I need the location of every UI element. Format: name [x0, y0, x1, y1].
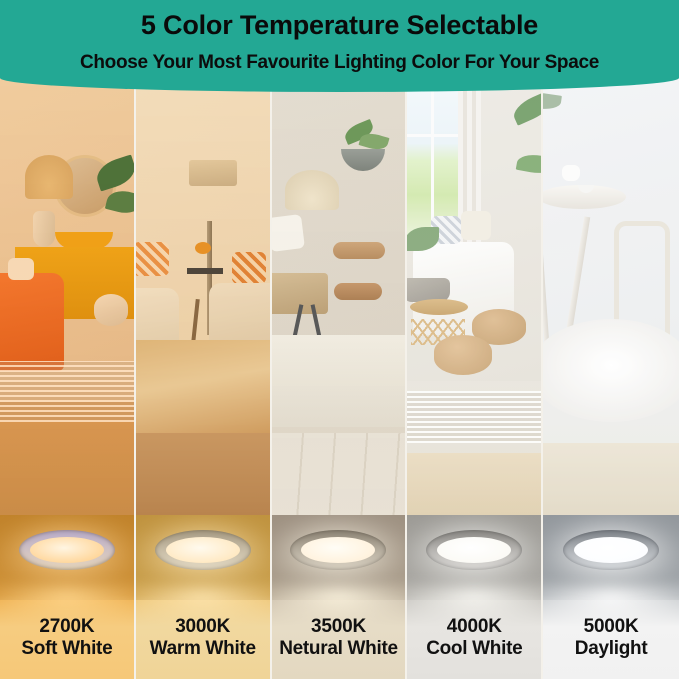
- temperature-name: Warm White: [150, 639, 256, 658]
- fixture-lens: [437, 537, 511, 563]
- striped-rug: [407, 391, 541, 443]
- temperature-column-grid: 2700K Soft White: [0, 0, 679, 679]
- kelvin-value: 3000K: [175, 617, 230, 636]
- patterned-cushion: [136, 242, 169, 276]
- patterned-rug: [136, 340, 270, 433]
- window-mullion: [407, 134, 463, 137]
- mirror-yellow-band: [55, 232, 113, 249]
- recessed-light-fixture: [290, 530, 386, 570]
- kelvin-value: 5000K: [584, 617, 639, 636]
- cushion: [8, 258, 34, 280]
- vase: [33, 211, 55, 247]
- temperature-column-3500k[interactable]: 3500K Netural White: [272, 0, 408, 679]
- temperature-column-5000k[interactable]: 5000K Daylight: [543, 0, 679, 679]
- teapot: [562, 165, 580, 181]
- pampas-grass: [25, 155, 73, 199]
- temperature-column-2700k[interactable]: 2700K Soft White: [0, 0, 136, 679]
- header-banner: 5 Color Temperature Selectable Choose Yo…: [0, 0, 679, 92]
- pouf: [94, 294, 128, 326]
- page-subtitle: Choose Your Most Favourite Lighting Colo…: [0, 39, 679, 72]
- plank-floor: [272, 433, 406, 515]
- label-5000k: 5000K Daylight: [543, 595, 679, 679]
- rattan-table: [410, 299, 468, 315]
- kelvin-value: 2700K: [39, 617, 94, 636]
- fixture-lens: [301, 537, 375, 563]
- wooden-stool: [334, 283, 382, 300]
- recessed-light-fixture: [19, 530, 115, 570]
- temperature-name: Daylight: [575, 639, 648, 658]
- wooden-stool: [333, 242, 385, 259]
- temperature-name: Cool White: [426, 639, 522, 658]
- wood-floor: [407, 453, 541, 515]
- label-4000k: 4000K Cool White: [407, 595, 541, 679]
- cushion: [461, 211, 491, 240]
- recessed-light-fixture: [563, 530, 659, 570]
- pumpkin-decor: [195, 242, 211, 254]
- jute-pouf: [434, 335, 492, 375]
- wood-floor: [543, 443, 679, 515]
- area-rug: [0, 361, 134, 423]
- recessed-light-fixture: [426, 530, 522, 570]
- fixture-lens: [30, 537, 104, 563]
- color-temperature-infographic: 2700K Soft White: [0, 0, 679, 679]
- recessed-light-fixture: [155, 530, 251, 570]
- label-2700k: 2700K Soft White: [0, 595, 134, 679]
- fixture-lens: [166, 537, 240, 563]
- pampas-grass: [285, 170, 339, 210]
- kelvin-value: 3500K: [311, 617, 366, 636]
- stacked-books: [187, 268, 223, 274]
- page-title: 5 Color Temperature Selectable: [0, 0, 679, 39]
- label-3000k: 3000K Warm White: [136, 595, 270, 679]
- temperature-name: Soft White: [21, 639, 112, 658]
- round-fluffy-rug: [543, 319, 679, 422]
- bench-cushion: [272, 214, 305, 252]
- wood-floor: [136, 433, 270, 515]
- lamp-shade: [189, 160, 237, 186]
- patterned-cushion: [232, 252, 266, 284]
- label-3500k: 3500K Netural White: [272, 595, 406, 679]
- temperature-name: Netural White: [279, 639, 398, 658]
- fixture-lens: [574, 537, 648, 563]
- orange-armchair: [0, 273, 64, 371]
- kelvin-value: 4000K: [447, 617, 502, 636]
- temperature-column-3000k[interactable]: 3000K Warm White: [136, 0, 272, 679]
- textured-rug: [272, 335, 406, 428]
- temperature-column-4000k[interactable]: 4000K Cool White: [407, 0, 543, 679]
